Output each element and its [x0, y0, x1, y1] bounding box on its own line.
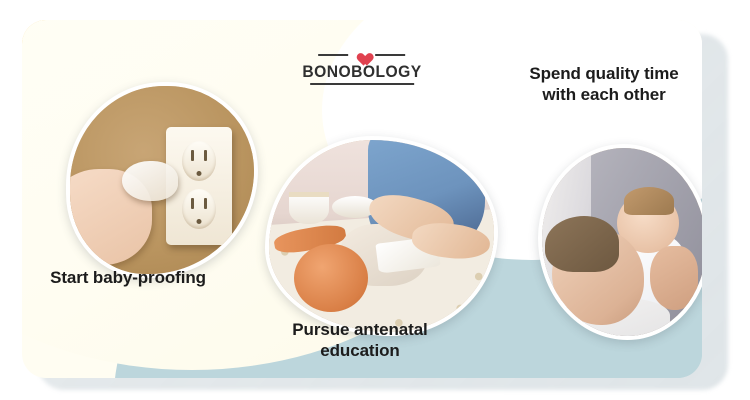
photo-content-antenatal: [269, 140, 494, 332]
photo-baby-proofing: [66, 82, 258, 278]
doll-head: [294, 244, 368, 312]
caption-quality-time: Spend quality time with each other: [496, 64, 712, 105]
caption-line: Start baby-proofing: [50, 268, 206, 287]
caption-line-2: education: [248, 341, 472, 362]
socket-top: [182, 141, 216, 181]
photo-content-outlet: [70, 86, 254, 274]
brand-name: BONOBOLOGY: [302, 63, 421, 81]
caption-line-1: Spend quality time: [496, 64, 712, 85]
photo-quality-time: [538, 144, 702, 340]
caption-line-2: with each other: [496, 85, 712, 106]
socket-bottom: [182, 189, 216, 229]
brand-logo: BONOBOLOGY: [297, 48, 427, 85]
heart-icon: [354, 48, 369, 62]
logo-rule-left: [318, 54, 348, 56]
caption-line-1: Pursue antenatal: [248, 320, 472, 341]
infographic-stage: BONOBOLOGY: [0, 0, 750, 400]
photo-content-father-baby: [542, 148, 702, 336]
caption-antenatal-education: Pursue antenatal education: [248, 320, 472, 361]
logo-heart-row: [297, 48, 427, 62]
photo-antenatal-education: [265, 136, 498, 336]
logo-rule-right: [375, 54, 405, 56]
caption-baby-proofing: Start baby-proofing: [18, 268, 238, 289]
bowl-prop: [289, 192, 329, 224]
baby-hair: [624, 187, 674, 215]
father-hand: [650, 246, 698, 310]
logo-rule-bottom: [310, 83, 414, 85]
outlet-cover-cap: [122, 161, 178, 201]
father-hair: [545, 216, 619, 272]
